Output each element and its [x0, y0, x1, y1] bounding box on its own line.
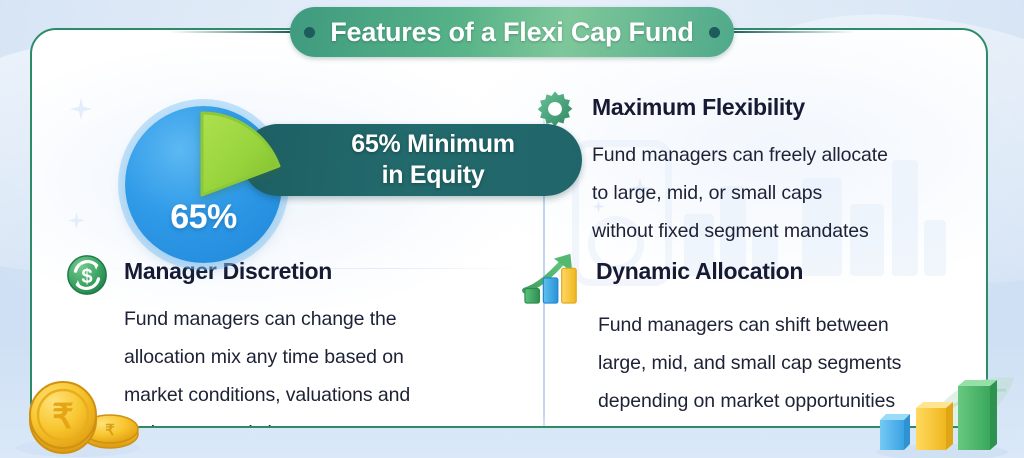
title-connector-right	[734, 31, 854, 33]
connector-dot-right-icon	[709, 27, 720, 38]
feature-maximum-flexibility: Maximum Flexibility Fund managers can fr…	[532, 88, 972, 250]
feature-line: without fixed segment mandates	[592, 212, 972, 250]
feature-line: Fund managers can shift between	[598, 306, 972, 344]
feature-line: to large, mid, or small caps	[592, 174, 972, 212]
feature-header: Dynamic Allocation	[522, 252, 972, 306]
bar-chart-3d-icon	[864, 358, 1014, 458]
page-title: Features of a Flexi Cap Fund	[330, 17, 693, 48]
svg-text:₹: ₹	[105, 422, 115, 439]
feature-line: Fund managers can freely allocate	[592, 136, 972, 174]
pie-slice-remaining	[196, 111, 288, 203]
feature-title: Maximum Flexibility	[592, 88, 805, 122]
pie-center-label: 65%	[125, 198, 282, 237]
feature-line: their own conviction.	[124, 414, 514, 428]
equity-callout-line-2: in Equity	[308, 160, 558, 191]
content-card: 65% Minimum in Equity 65%	[30, 28, 988, 428]
feature-header: Maximum Flexibility	[532, 88, 972, 134]
equity-callout-line-1: 65% Minimum	[308, 129, 558, 160]
title-pill: Features of a Flexi Cap Fund	[290, 7, 733, 57]
feature-line: Fund managers can change the	[124, 300, 514, 338]
equity-pie-section: 65% Minimum in Equity 65%	[92, 96, 532, 268]
sparkle-icon	[68, 212, 85, 229]
equity-callout-text: 65% Minimum in Equity	[308, 129, 558, 191]
sparkle-icon	[70, 98, 92, 120]
equity-callout-pill: 65% Minimum in Equity	[242, 124, 582, 196]
title-connector-left	[170, 31, 290, 33]
feature-line: allocation mix any time based on	[124, 338, 514, 376]
feature-description: Fund managers can freely allocate to lar…	[592, 136, 972, 250]
feature-title: Dynamic Allocation	[596, 252, 803, 286]
feature-line: market conditions, valuations and	[124, 376, 514, 414]
svg-text:₹: ₹	[52, 398, 74, 436]
rupee-coins-icon: ₹ ₹	[8, 368, 148, 458]
infographic-canvas: 65% Minimum in Equity 65%	[0, 0, 1024, 458]
title-banner: Features of a Flexi Cap Fund	[0, 6, 1024, 58]
feature-description: Fund managers can change the allocation …	[124, 300, 514, 428]
connector-dot-left-icon	[304, 27, 315, 38]
svg-text:$: $	[81, 266, 92, 288]
